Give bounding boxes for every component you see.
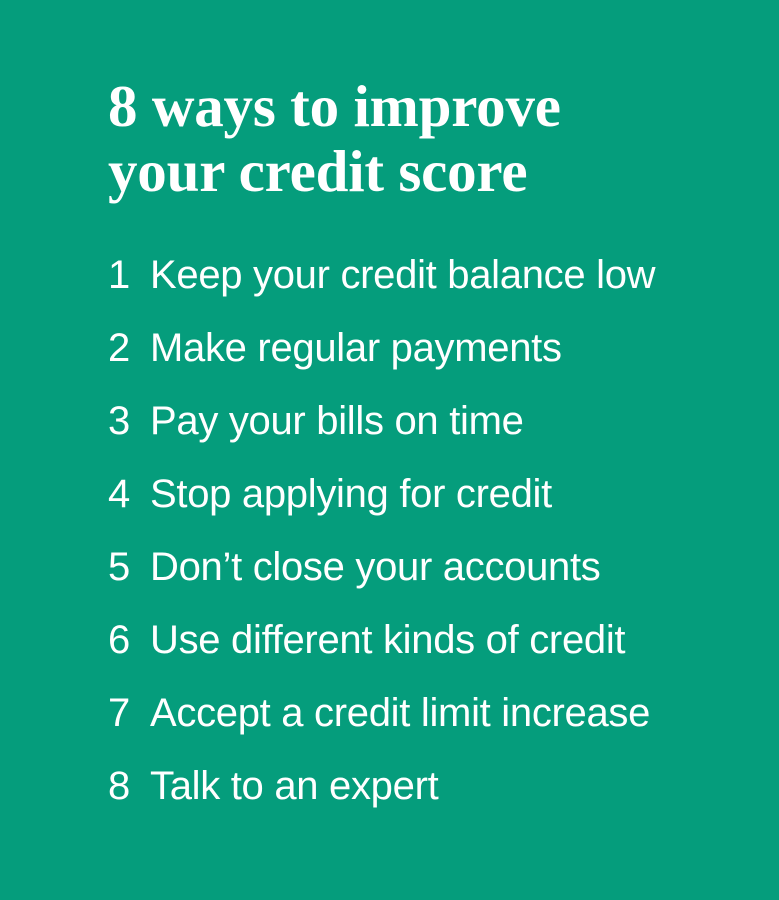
list-item: 5 Don’t close your accounts (108, 544, 708, 617)
list-item-number: 5 (108, 544, 150, 590)
list-item: 2 Make regular payments (108, 325, 708, 398)
list-item: 4 Stop applying for credit (108, 471, 708, 544)
list-item-number: 7 (108, 690, 150, 736)
list-item: 1 Keep your credit balance low (108, 252, 708, 325)
list-item-number: 4 (108, 471, 150, 517)
list-item: 3 Pay your bills on time (108, 398, 708, 471)
page-title: 8 ways to improve your credit score (108, 74, 561, 204)
poster-content: 8 ways to improve your credit score 1 Ke… (108, 0, 719, 900)
list-item-label: Make regular payments (150, 325, 562, 371)
list-item-label: Talk to an expert (150, 763, 438, 809)
list-item-number: 1 (108, 252, 150, 298)
list-item-label: Accept a credit limit increase (150, 690, 650, 736)
list-item: 7 Accept a credit limit increase (108, 690, 708, 763)
list-item-label: Keep your credit balance low (150, 252, 655, 298)
list-item-number: 3 (108, 398, 150, 444)
list-item-label: Stop applying for credit (150, 471, 552, 517)
list-item: 6 Use different kinds of credit (108, 617, 708, 690)
list-item-number: 2 (108, 325, 150, 371)
list-item-label: Pay your bills on time (150, 398, 524, 444)
list-item-label: Use different kinds of credit (150, 617, 625, 663)
tips-list: 1 Keep your credit balance low 2 Make re… (108, 252, 708, 836)
list-item-number: 8 (108, 763, 150, 809)
credit-score-tips-poster: 8 ways to improve your credit score 1 Ke… (0, 0, 779, 900)
list-item: 8 Talk to an expert (108, 763, 708, 836)
list-item-number: 6 (108, 617, 150, 663)
list-item-label: Don’t close your accounts (150, 544, 601, 590)
